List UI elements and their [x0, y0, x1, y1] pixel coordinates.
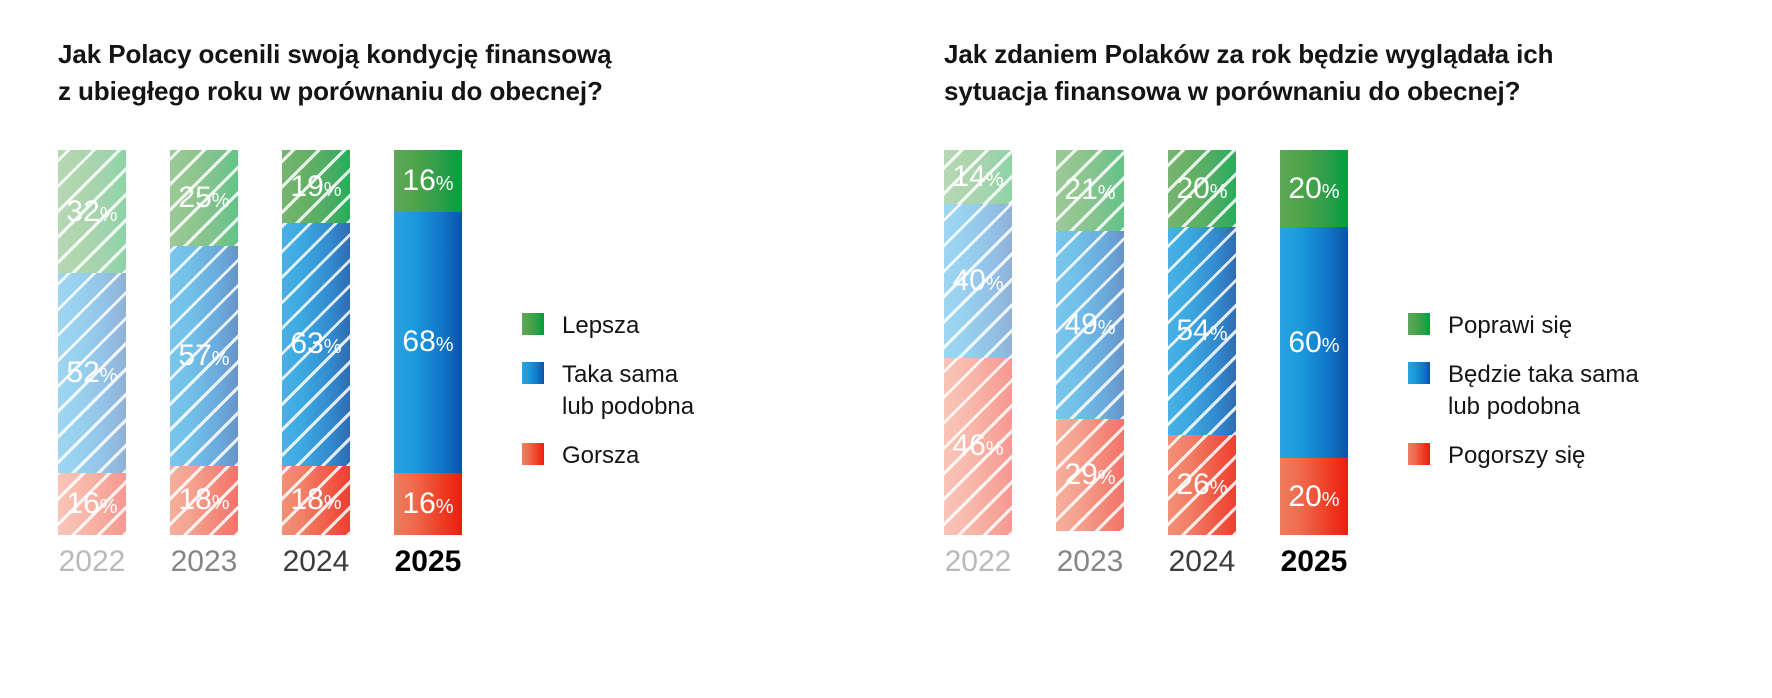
chart-panel-future: Jak zdaniem Polaków za rok będzie wygląd… [886, 0, 1772, 698]
data-label: 32% [66, 197, 117, 227]
x-axis-tick-2025: 2025 [1280, 545, 1348, 578]
x-axis-tick-2022: 2022 [58, 545, 126, 578]
stacked-bar-plot-future: 14%40%46%21%49%29%20%54%26%20%60%20% [944, 150, 1364, 535]
bar-segment-blue: 63% [282, 223, 350, 466]
data-label: 68% [402, 327, 453, 357]
x-axis-tick-2022: 2022 [944, 545, 1012, 578]
legend-item[interactable]: Lepsza [522, 310, 842, 342]
bar-segment-green: 20% [1168, 150, 1236, 227]
bar-segment-green: 21% [1056, 150, 1124, 231]
bar-segment-green: 19% [282, 150, 350, 223]
legend-item[interactable]: Pogorszy się [1408, 440, 1728, 472]
bar-segment-red: 18% [170, 466, 238, 535]
x-axis-tick-2023: 2023 [170, 545, 238, 578]
legend-item-label: Gorsza [562, 440, 639, 472]
legend-swatch-red [522, 443, 544, 465]
data-label: 18% [290, 485, 341, 515]
legend-swatch-green [522, 313, 544, 335]
bar-group: 20%54%26% [1168, 150, 1236, 535]
legend-item-label: Będzie taka sama lub podobna [1448, 359, 1639, 423]
bar-segment-green: 20% [1280, 150, 1348, 227]
chart-panel-past: Jak Polacy ocenili swoją kondycję finans… [0, 0, 886, 698]
data-label: 60% [1288, 328, 1339, 358]
data-label: 52% [66, 358, 117, 388]
bar-segment-blue: 49% [1056, 231, 1124, 420]
data-label: 21% [1064, 175, 1115, 205]
data-label: 16% [402, 489, 453, 519]
bar-segment-blue: 60% [1280, 227, 1348, 458]
legend-swatch-red [1408, 443, 1430, 465]
x-axis-tick-2024: 2024 [282, 545, 350, 578]
x-axis-tick-2025: 2025 [394, 545, 462, 578]
bar-group: 25%57%18% [170, 150, 238, 535]
data-label: 16% [66, 489, 117, 519]
bar-segment-red: 46% [944, 358, 1012, 535]
data-label: 63% [290, 329, 341, 359]
legend-item[interactable]: Gorsza [522, 440, 842, 472]
legend-item-label: Taka sama lub podobna [562, 359, 694, 423]
data-label: 19% [290, 172, 341, 202]
legend-swatch-green [1408, 313, 1430, 335]
bar-group: 14%40%46% [944, 150, 1012, 535]
legend-item-label: Pogorszy się [1448, 440, 1585, 472]
data-label: 18% [178, 485, 229, 515]
data-label: 54% [1176, 316, 1227, 346]
data-label: 16% [402, 166, 453, 196]
bar-segment-green: 25% [170, 150, 238, 246]
bar-group: 21%49%29% [1056, 150, 1124, 535]
bar-segment-blue: 54% [1168, 227, 1236, 435]
data-label: 57% [178, 341, 229, 371]
bar-segment-green: 32% [58, 150, 126, 273]
legend-item[interactable]: Poprawi się [1408, 310, 1728, 342]
data-label: 20% [1176, 174, 1227, 204]
legend-item-label: Lepsza [562, 310, 639, 342]
legend-future: Poprawi sięBędzie taka sama lub podobnaP… [1408, 310, 1728, 472]
data-label: 14% [952, 162, 1003, 192]
data-label: 29% [1064, 460, 1115, 490]
x-axis-year-labels-past: 2022202320242025 [58, 545, 478, 589]
data-label: 25% [178, 183, 229, 213]
x-axis-tick-2024: 2024 [1168, 545, 1236, 578]
bar-segment-red: 29% [1056, 419, 1124, 531]
bar-segment-red: 26% [1168, 435, 1236, 535]
stacked-bar-plot-past: 32%52%16%25%57%18%19%63%18%16%68%16% [58, 150, 478, 535]
bar-segment-red: 20% [1280, 458, 1348, 535]
bar-segment-blue: 40% [944, 204, 1012, 358]
bar-group: 32%52%16% [58, 150, 126, 535]
legend-swatch-blue [1408, 362, 1430, 384]
bar-segment-red: 16% [394, 473, 462, 535]
data-label: 26% [1176, 470, 1227, 500]
bar-segment-blue: 57% [170, 246, 238, 465]
legend-item[interactable]: Taka sama lub podobna [522, 359, 842, 423]
bar-segment-blue: 52% [58, 273, 126, 473]
x-axis-year-labels-future: 2022202320242025 [944, 545, 1364, 589]
legend-item[interactable]: Będzie taka sama lub podobna [1408, 359, 1728, 423]
legend-past: LepszaTaka sama lub podobnaGorsza [522, 310, 842, 472]
bar-group: 19%63%18% [282, 150, 350, 535]
bar-group: 16%68%16% [394, 150, 462, 535]
data-label: 20% [1288, 482, 1339, 512]
data-label: 46% [952, 431, 1003, 461]
data-label: 40% [952, 266, 1003, 296]
bar-segment-red: 18% [282, 466, 350, 535]
data-label: 20% [1288, 174, 1339, 204]
page-title: Jak Polacy ocenili swoją kondycję finans… [58, 36, 758, 110]
bar-segment-red: 16% [58, 473, 126, 535]
bar-segment-blue: 68% [394, 212, 462, 474]
legend-swatch-blue [522, 362, 544, 384]
infographic-canvas: Jak Polacy ocenili swoją kondycję finans… [0, 0, 1772, 698]
data-label: 49% [1064, 310, 1115, 340]
x-axis-tick-2023: 2023 [1056, 545, 1124, 578]
page-title-secondary: Jak zdaniem Polaków za rok będzie wygląd… [944, 36, 1644, 110]
bar-group: 20%60%20% [1280, 150, 1348, 535]
bar-segment-green: 14% [944, 150, 1012, 204]
legend-item-label: Poprawi się [1448, 310, 1572, 342]
bar-segment-green: 16% [394, 150, 462, 212]
